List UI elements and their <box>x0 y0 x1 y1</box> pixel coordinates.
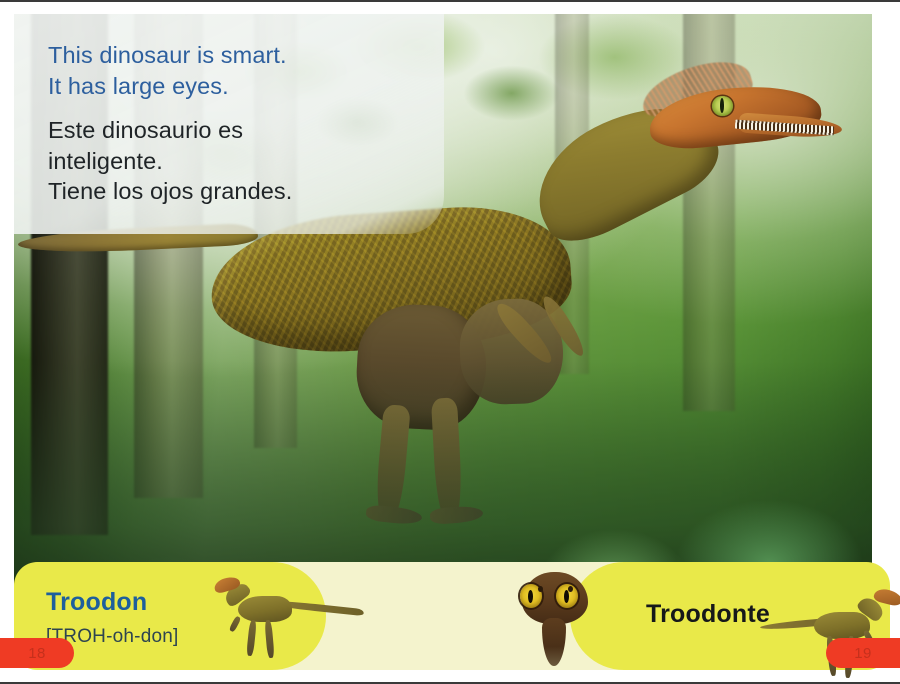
face-pupil-left <box>528 590 533 603</box>
book-page-spread: This dinosaur is smart. It has large eye… <box>0 0 900 684</box>
text-overlay-panel: This dinosaur is smart. It has large eye… <box>14 14 444 234</box>
dinosaur-face-portrait <box>512 568 598 670</box>
spanish-sentence-block: Este dinosaurio es inteligente. Tiene lo… <box>48 115 418 207</box>
species-name-english: Troodon <box>46 588 147 617</box>
face-pupil-right <box>564 590 569 603</box>
spanish-line-1: Este dinosaurio es <box>48 115 418 146</box>
bilingual-copy: This dinosaur is smart. It has large eye… <box>48 40 418 207</box>
face-nostril-left <box>538 586 543 592</box>
page-number-right: 19 <box>854 645 872 662</box>
species-label-banner: Troodon [TROH-oh-don] Troodonte <box>14 562 872 670</box>
page-number-tab-right: 19 <box>826 638 900 668</box>
page-number-left: 18 <box>28 645 46 662</box>
spanish-line-2: inteligente. <box>48 146 418 177</box>
face-snout <box>542 618 566 666</box>
species-name-spanish: Troodonte <box>646 600 770 629</box>
page-number-tab-left: 18 <box>0 638 74 668</box>
tree-trunk <box>683 14 734 411</box>
english-line-2: It has large eyes. <box>48 71 418 102</box>
spanish-line-3: Tiene los ojos grandes. <box>48 176 418 207</box>
face-nostril-right <box>568 586 573 592</box>
english-sentence-block: This dinosaur is smart. It has large eye… <box>48 40 418 101</box>
tree-trunk <box>555 14 589 374</box>
english-line-1: This dinosaur is smart. <box>48 40 418 71</box>
